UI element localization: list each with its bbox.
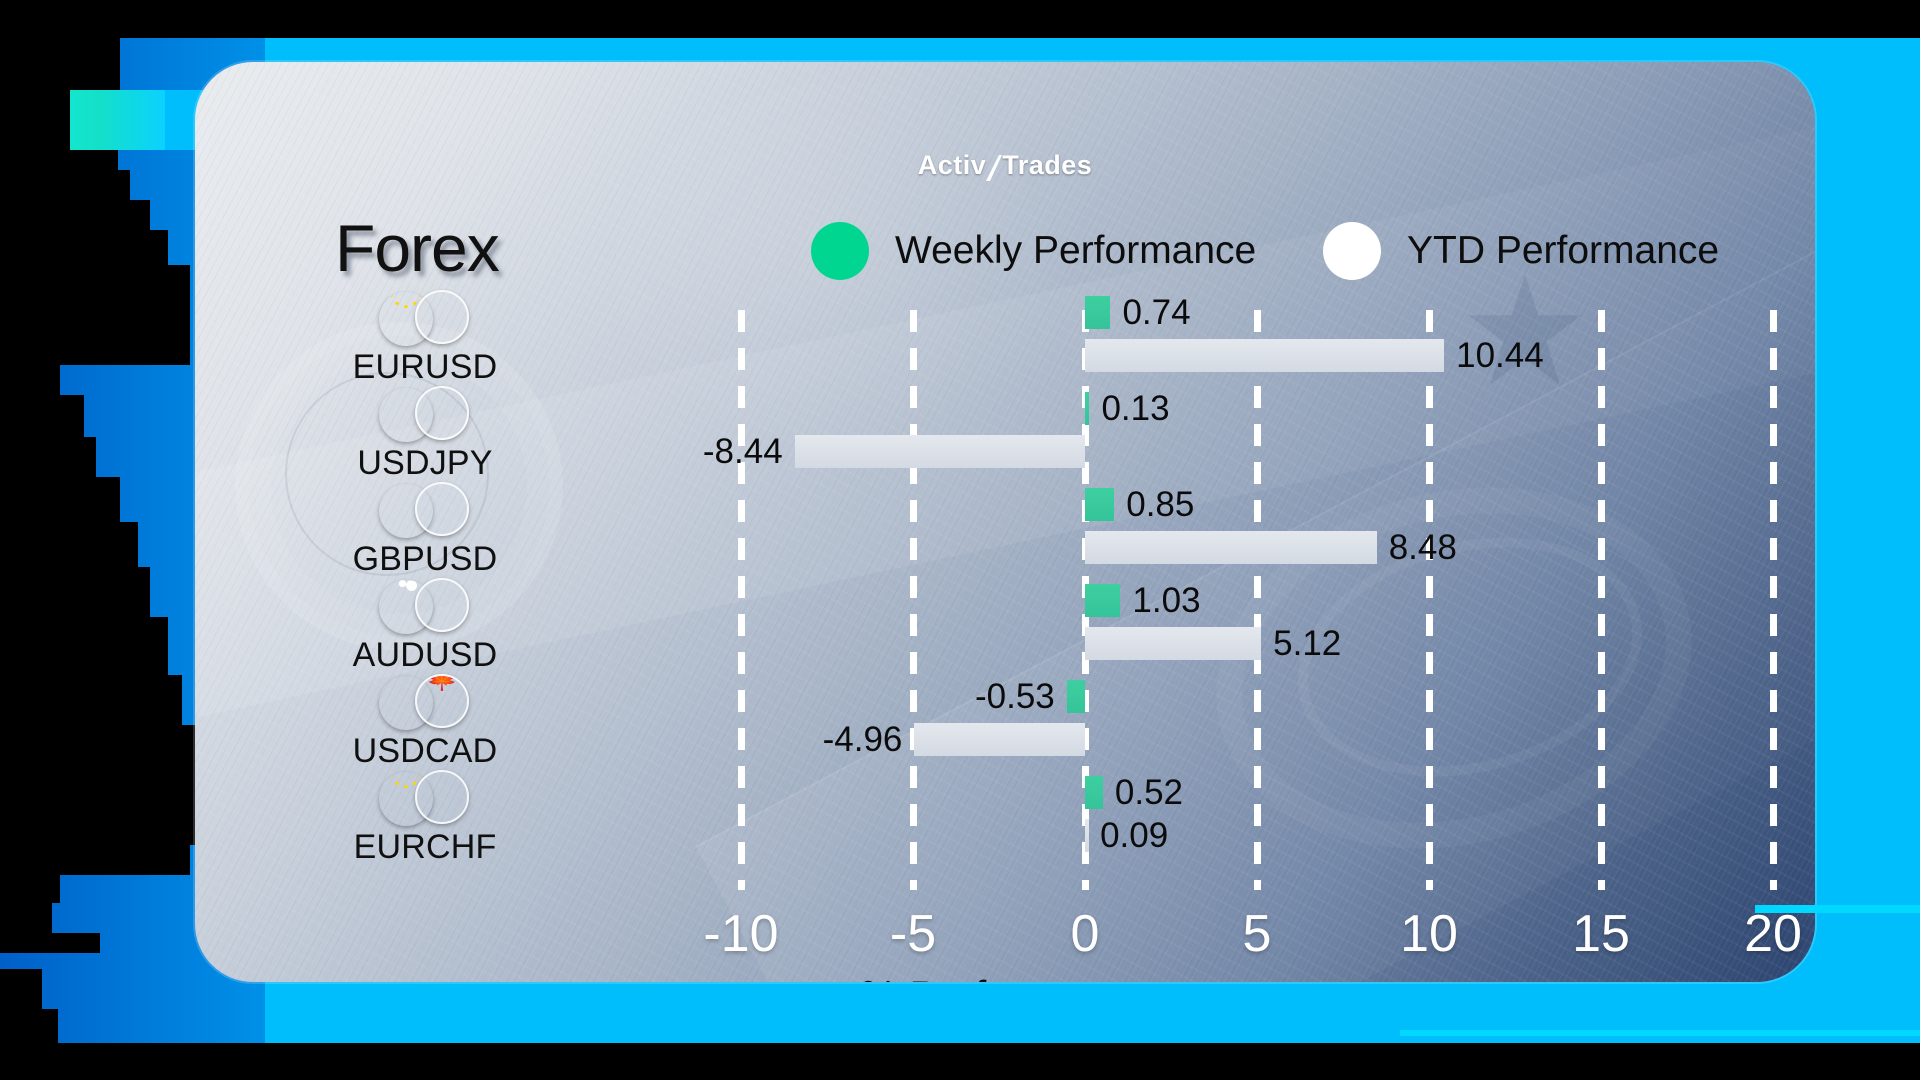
legend-item-ytd[interactable]: YTD Performance [1323,222,1719,280]
us-flag-icon [415,290,469,344]
glitch-segment [0,725,195,775]
legend-label-weekly: Weekly Performance [895,229,1256,273]
glitch-segment [0,38,120,90]
bar-value-weekly-eurusd: 0.74 [1122,296,1190,329]
currency-pair-symbol: GBPUSD [305,540,545,579]
x-tick-15: 15 [1572,904,1630,964]
slash-check-icon [986,151,1002,182]
x-tick-10: 10 [1400,904,1458,964]
glitch-segment [0,90,70,150]
bar-weekly-usdcad[interactable] [1067,680,1085,713]
glitch-segment [0,1009,58,1043]
x-tick-0: 0 [1071,904,1100,964]
glitch-stripe [1755,905,1920,913]
legend-label-ytd: YTD Performance [1407,229,1719,273]
bar-ytd-audusd[interactable] [1085,627,1261,660]
bar-ytd-eurchf[interactable] [1085,819,1089,852]
flag-pair [377,386,473,442]
glitch-segment [0,200,150,230]
glitch-segment [0,170,130,200]
letterbox-top [0,0,1920,38]
category-label-usdjpy: USDJPY [305,386,545,483]
bar-weekly-eurusd[interactable] [1085,296,1110,329]
bar-value-ytd-audusd: 5.12 [1273,627,1341,660]
x-tick--10: -10 [703,904,778,964]
bar-value-weekly-usdcad: -0.53 [975,680,1055,713]
glitch-segment [0,477,120,522]
glitch-segment [0,875,60,903]
bar-ytd-eurusd[interactable] [1085,339,1444,372]
bar-value-ytd-eurchf: 0.09 [1100,819,1168,852]
flag-pair: 🍁 [377,674,473,730]
bar-ytd-usdjpy[interactable] [795,435,1085,468]
glitch-segment [0,522,138,567]
glitch-segment [0,265,190,365]
logo-word-activ: Activ [918,150,987,180]
flag-pair [377,482,473,538]
legend-dot-ytd-icon [1323,222,1381,280]
screenshot-canvas: Activ Trades Forex Weekly Performance YT… [0,0,1920,1080]
category-label-eurusd: EURUSD [305,290,545,387]
legend-dot-weekly-icon [811,222,869,280]
bar-value-weekly-gbpusd: 0.85 [1126,488,1194,521]
category-label-audusd: AUDUSD [305,578,545,675]
currency-pair-symbol: AUDUSD [305,636,545,675]
glitch-segment [0,903,52,933]
glitch-segment [0,969,42,1009]
bar-value-ytd-eurusd: 10.44 [1456,339,1544,372]
glitch-segment [0,675,182,725]
x-tick--5: -5 [890,904,936,964]
bar-value-ytd-usdcad: -4.96 [823,723,903,756]
glitch-segment [0,365,60,395]
category-label-usdcad: 🍁USDCAD [305,674,545,771]
us-flag-icon [415,482,469,536]
bar-ytd-gbpusd[interactable] [1085,531,1377,564]
currency-pair-symbol: USDCAD [305,732,545,771]
glitch-segment [0,395,84,437]
bar-value-ytd-gbpusd: 8.48 [1389,531,1457,564]
bar-value-ytd-usdjpy: -8.44 [703,435,783,468]
flag-pair [377,290,473,346]
category-label-eurchf: EURCHF [305,770,545,867]
glitch-stripe [1400,1030,1920,1036]
us-flag-icon [415,578,469,632]
glitch-segment [0,567,150,617]
bar-weekly-audusd[interactable] [1085,584,1120,617]
glitch-segment [0,437,96,477]
glitch-segment [0,230,168,265]
bar-weekly-eurchf[interactable] [1085,776,1103,809]
bar-weekly-gbpusd[interactable] [1085,488,1114,521]
glitch-segment [0,933,100,953]
jp-flag-icon [415,386,469,440]
glitch-segment [0,845,190,875]
legend-item-weekly[interactable]: Weekly Performance [811,222,1256,280]
ca-flag-icon: 🍁 [415,674,469,728]
bar-ytd-usdcad[interactable] [914,723,1085,756]
glitch-segment [0,775,210,845]
category-label-gbpusd: GBPUSD [305,482,545,579]
glitch-segment [0,617,168,675]
x-tick-5: 5 [1243,904,1272,964]
x-tick-20: 20 [1744,904,1802,964]
bar-value-weekly-audusd: 1.03 [1132,584,1200,617]
glitch-segment [0,150,118,170]
currency-pair-symbol: USDJPY [305,444,545,483]
ch-flag-icon [415,770,469,824]
bar-value-weekly-eurchf: 0.52 [1115,776,1183,809]
flag-pair [377,578,473,634]
logo-word-trades: Trades [1002,150,1092,180]
letterbox-bottom [0,1043,1920,1080]
chart-header: Forex Weekly Performance YTD Performance [195,210,1815,290]
currency-pair-symbol: EURCHF [305,828,545,867]
page-title: Forex [335,210,499,286]
activtrades-logo: Activ Trades [195,150,1815,181]
flag-pair [377,770,473,826]
forex-performance-card: Activ Trades Forex Weekly Performance YT… [195,62,1815,982]
bar-weekly-usdjpy[interactable] [1085,392,1089,425]
currency-pair-symbol: EURUSD [305,348,545,387]
value-axis-ticks: -10-505101520 [195,904,1815,974]
bar-value-weekly-usdjpy: 0.13 [1101,392,1169,425]
value-axis-title: % Performance [195,972,1815,982]
